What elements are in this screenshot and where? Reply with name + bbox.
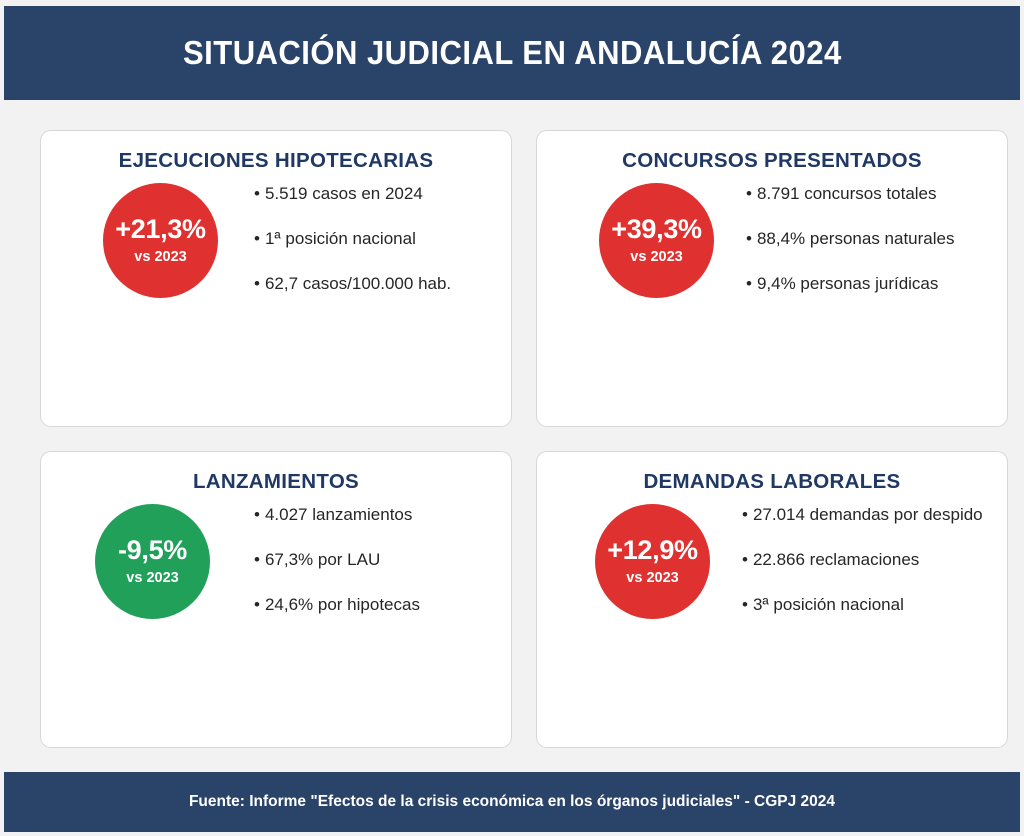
list-item-text: 3ª posición nacional — [753, 595, 904, 614]
header-bar: SITUACIÓN JUDICIAL EN ANDALUCÍA 2024 — [4, 6, 1020, 100]
list-item: •62,7 casos/100.000 hab. — [254, 275, 511, 292]
list-item-text: 67,3% por LAU — [265, 550, 380, 569]
bullet-dot-icon: • — [746, 275, 752, 292]
variation-percentage: -9,5% — [118, 537, 187, 564]
bullet-dot-icon: • — [254, 551, 260, 568]
bullet-dot-icon: • — [742, 506, 748, 523]
bullet-dot-icon: • — [742, 596, 748, 613]
list-item: •9,4% personas jurídicas — [746, 275, 1007, 292]
list-item: •22.866 reclamaciones — [742, 551, 1007, 568]
page-title: SITUACIÓN JUDICIAL EN ANDALUCÍA 2024 — [183, 34, 842, 72]
card-bullet-list: •27.014 demandas por despido •22.866 rec… — [742, 506, 1007, 613]
stat-card-demandas-laborales: DEMANDAS LABORALES +12,9% vs 2023 •27.01… — [536, 451, 1008, 748]
list-item-text: 9,4% personas jurídicas — [757, 274, 938, 293]
variation-comparison-label: vs 2023 — [126, 571, 178, 586]
list-item: •4.027 lanzamientos — [254, 506, 511, 523]
bullet-dot-icon: • — [746, 230, 752, 247]
variation-comparison-label: vs 2023 — [630, 250, 682, 265]
list-item-text: 8.791 concursos totales — [757, 184, 937, 203]
list-item-text: 62,7 casos/100.000 hab. — [265, 274, 451, 293]
stats-card-grid: EJECUCIONES HIPOTECARIAS +21,3% vs 2023 … — [0, 100, 1024, 772]
card-body: +39,3% vs 2023 •8.791 concursos totales … — [537, 181, 1007, 298]
stat-card-concursos-presentados: CONCURSOS PRESENTADOS +39,3% vs 2023 •8.… — [536, 130, 1008, 427]
card-bullet-list: •5.519 casos en 2024 •1ª posición nacion… — [254, 185, 511, 292]
list-item-text: 27.014 demandas por despido — [753, 505, 983, 524]
variation-badge: -9,5% vs 2023 — [95, 504, 210, 619]
variation-percentage: +39,3% — [611, 216, 702, 243]
card-bullet-list: •8.791 concursos totales •88,4% personas… — [746, 185, 1007, 292]
variation-comparison-label: vs 2023 — [626, 571, 678, 586]
card-bullet-list: •4.027 lanzamientos •67,3% por LAU •24,6… — [254, 506, 511, 613]
variation-badge: +39,3% vs 2023 — [599, 183, 714, 298]
card-title: CONCURSOS PRESENTADOS — [537, 149, 1007, 173]
list-item: •1ª posición nacional — [254, 230, 511, 247]
bullet-dot-icon: • — [742, 551, 748, 568]
list-item-text: 22.866 reclamaciones — [753, 550, 919, 569]
bullet-dot-icon: • — [254, 185, 260, 202]
card-title: DEMANDAS LABORALES — [537, 470, 1007, 494]
list-item-text: 24,6% por hipotecas — [265, 595, 420, 614]
list-item: •24,6% por hipotecas — [254, 596, 511, 613]
list-item: •8.791 concursos totales — [746, 185, 1007, 202]
list-item: •27.014 demandas por despido — [742, 506, 1007, 523]
bullet-dot-icon: • — [254, 506, 260, 523]
card-title: LANZAMIENTOS — [41, 470, 511, 494]
list-item: •88,4% personas naturales — [746, 230, 1007, 247]
card-body: +21,3% vs 2023 •5.519 casos en 2024 •1ª … — [41, 181, 511, 298]
source-note: Fuente: Informe "Efectos de la crisis ec… — [189, 793, 835, 811]
card-title: EJECUCIONES HIPOTECARIAS — [41, 149, 511, 173]
stat-card-lanzamientos: LANZAMIENTOS -9,5% vs 2023 •4.027 lanzam… — [40, 451, 512, 748]
bullet-dot-icon: • — [746, 185, 752, 202]
variation-comparison-label: vs 2023 — [134, 250, 186, 265]
bullet-dot-icon: • — [254, 275, 260, 292]
list-item-text: 5.519 casos en 2024 — [265, 184, 423, 203]
list-item-text: 88,4% personas naturales — [757, 229, 955, 248]
list-item: •5.519 casos en 2024 — [254, 185, 511, 202]
list-item-text: 1ª posición nacional — [265, 229, 416, 248]
infographic-root: SITUACIÓN JUDICIAL EN ANDALUCÍA 2024 EJE… — [0, 0, 1024, 836]
list-item: •67,3% por LAU — [254, 551, 511, 568]
bullet-dot-icon: • — [254, 596, 260, 613]
list-item: •3ª posición nacional — [742, 596, 1007, 613]
variation-percentage: +12,9% — [607, 537, 698, 564]
variation-badge: +12,9% vs 2023 — [595, 504, 710, 619]
card-body: -9,5% vs 2023 •4.027 lanzamientos •67,3%… — [41, 502, 511, 619]
card-body: +12,9% vs 2023 •27.014 demandas por desp… — [537, 502, 1007, 619]
variation-percentage: +21,3% — [115, 216, 206, 243]
list-item-text: 4.027 lanzamientos — [265, 505, 412, 524]
footer-bar: Fuente: Informe "Efectos de la crisis ec… — [4, 772, 1020, 832]
stat-card-ejecuciones-hipotecarias: EJECUCIONES HIPOTECARIAS +21,3% vs 2023 … — [40, 130, 512, 427]
bullet-dot-icon: • — [254, 230, 260, 247]
variation-badge: +21,3% vs 2023 — [103, 183, 218, 298]
